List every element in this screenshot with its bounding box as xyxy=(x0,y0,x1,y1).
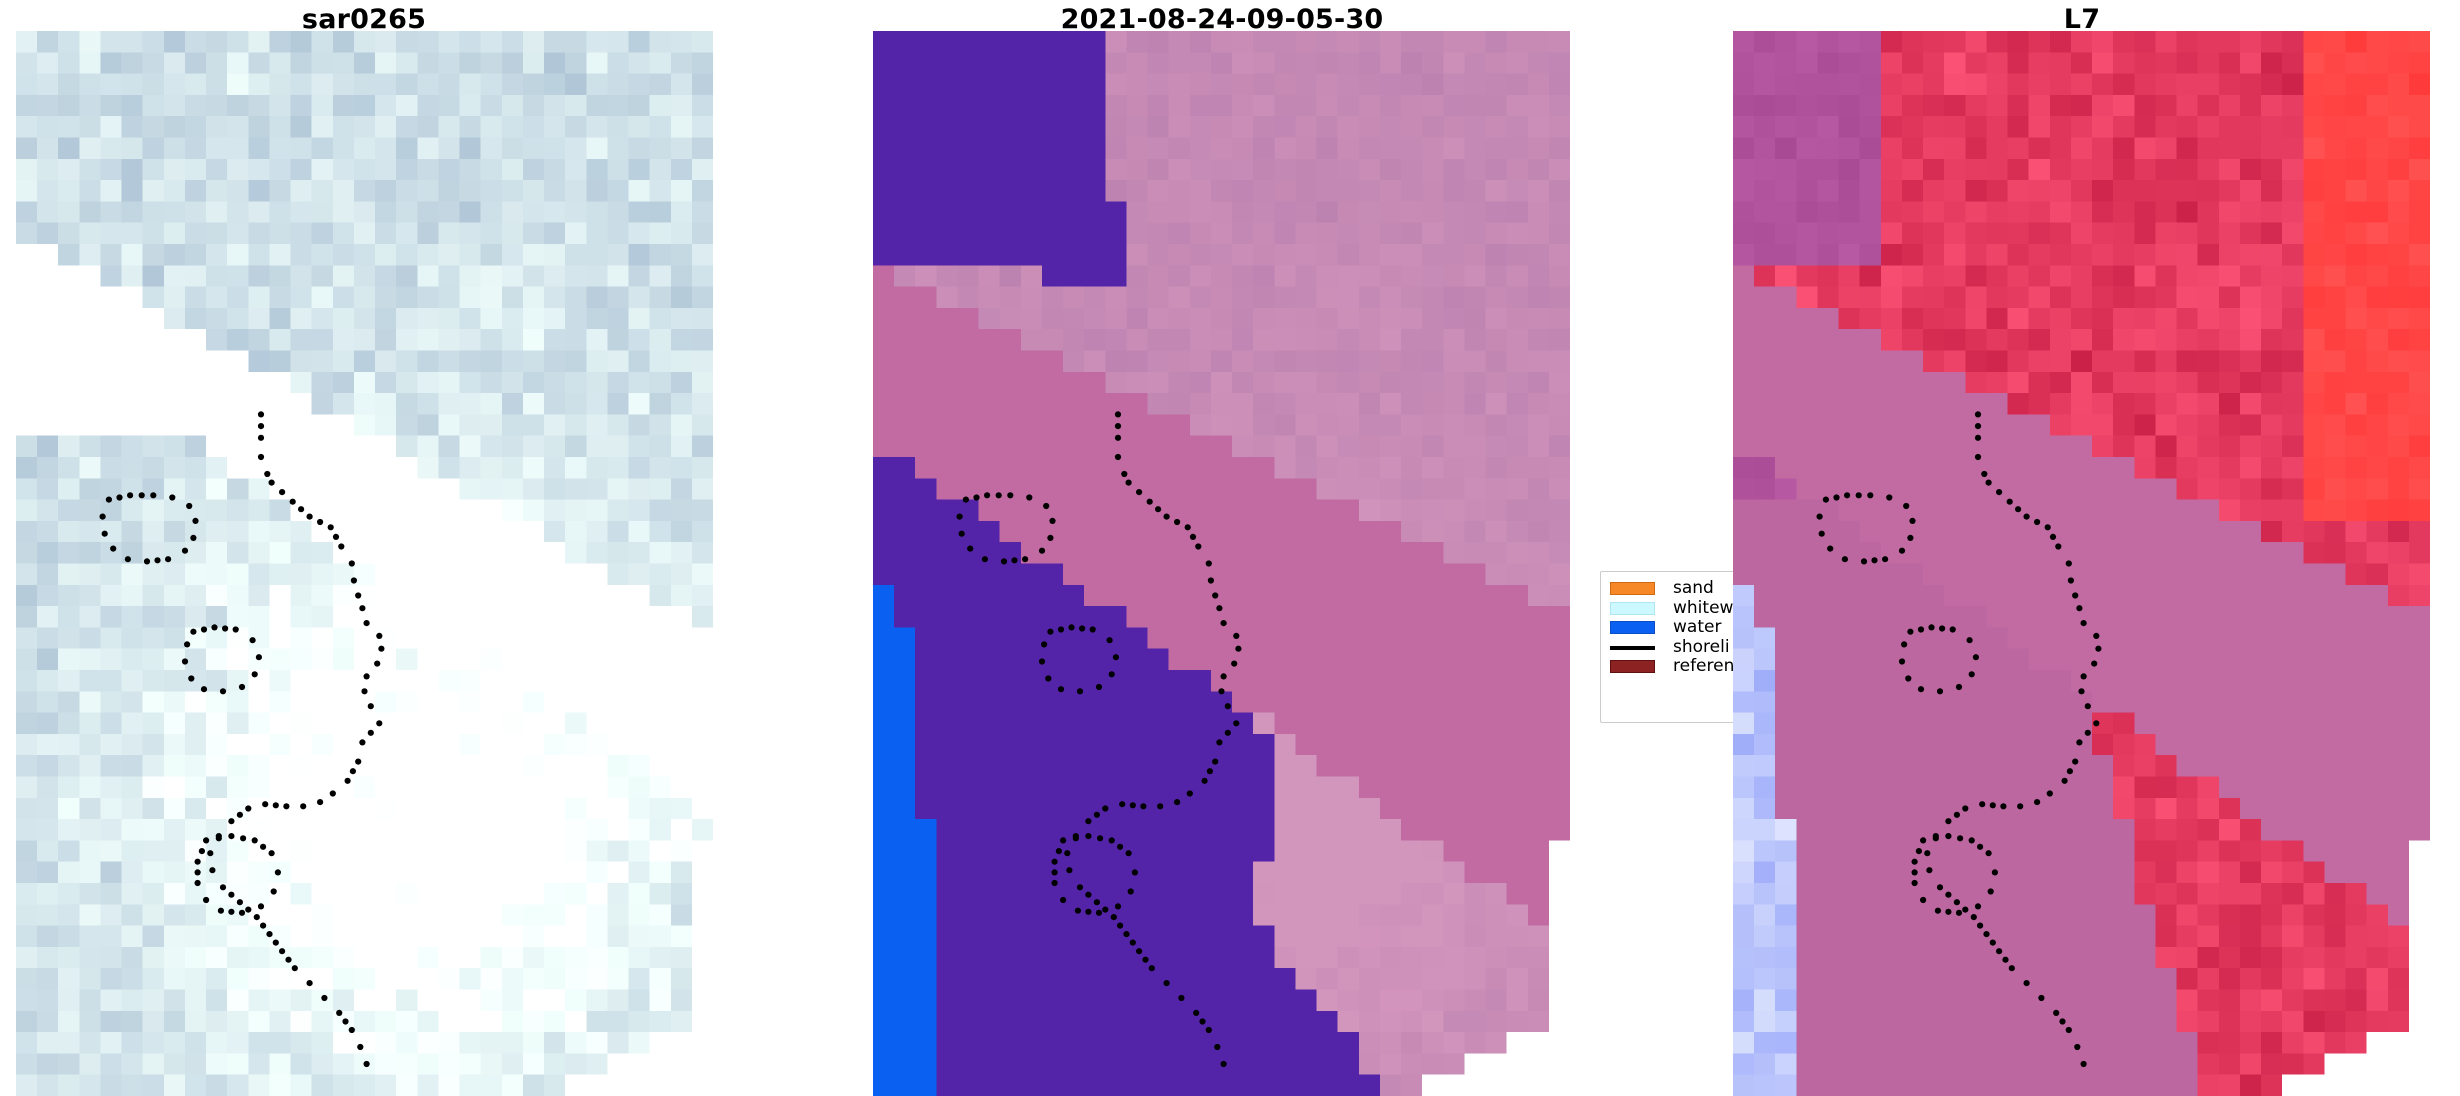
legend-label-whitewater: whitew xyxy=(1673,599,1733,618)
legend-swatch-water xyxy=(1610,621,1655,634)
panel-classified[interactable] xyxy=(873,31,1570,1096)
legend-swatch-shoreline xyxy=(1610,646,1655,650)
figure-canvas: sar0265 2021-08-24-09-05-30 L7 sand whit… xyxy=(0,0,2460,1096)
raster-sar0265 xyxy=(16,31,713,1096)
raster-classified xyxy=(873,31,1570,1096)
legend-label-shoreline: shoreli xyxy=(1673,638,1730,657)
raster-l7 xyxy=(1733,31,2430,1096)
panel-sar0265[interactable] xyxy=(16,31,713,1096)
legend-label-water: water xyxy=(1673,618,1721,637)
legend-label-reference: referen xyxy=(1673,657,1734,676)
legend-swatch-sand xyxy=(1610,582,1655,595)
legend-swatch-whitewater xyxy=(1610,602,1655,615)
panel-l7[interactable] xyxy=(1733,31,2430,1096)
legend-label-sand: sand xyxy=(1673,579,1714,598)
legend-swatch-reference xyxy=(1610,660,1655,673)
